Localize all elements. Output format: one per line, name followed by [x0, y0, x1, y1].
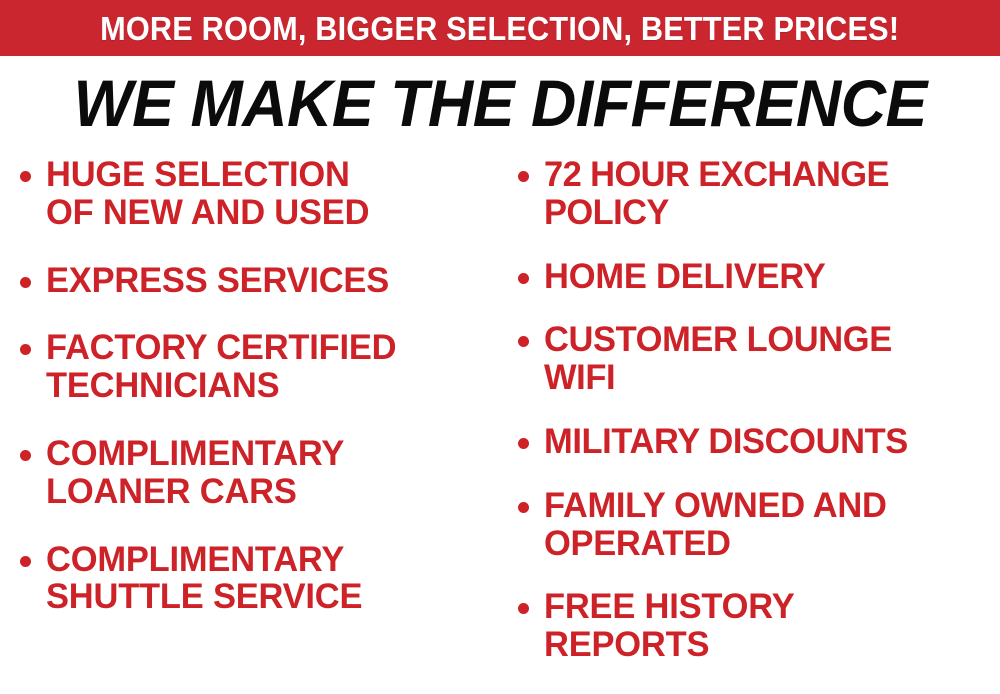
banner-headline: MORE ROOM, BIGGER SELECTION, BETTER PRIC…: [100, 12, 899, 45]
list-item: EXPRESS SERVICES: [20, 262, 496, 300]
list-item: MILITARY DISCOUNTS: [518, 423, 998, 461]
benefit-label-huge-selection: HUGE SELECTION OF NEW AND USED: [46, 156, 369, 232]
bullet-dot-icon: [518, 423, 544, 454]
benefit-label-free-history-reports: FREE HISTORY REPORTS: [544, 588, 794, 664]
benefit-label-military-discounts: MILITARY DISCOUNTS: [544, 423, 908, 461]
benefit-label-express-services: EXPRESS SERVICES: [46, 262, 389, 300]
bullet-dot-icon: [518, 588, 544, 619]
benefit-label-home-delivery: HOME DELIVERY: [544, 258, 826, 296]
list-item: FREE HISTORY REPORTS: [518, 588, 998, 664]
list-item: FACTORY CERTIFIED TECHNICIANS: [20, 329, 496, 405]
benefit-label-shuttle-service: COMPLIMENTARY SHUTTLE SERVICE: [46, 541, 362, 617]
benefit-label-factory-certified: FACTORY CERTIFIED TECHNICIANS: [46, 329, 396, 405]
bullet-dot-icon: [20, 329, 46, 360]
bullet-dot-icon: [20, 541, 46, 572]
bullet-dot-icon: [518, 258, 544, 289]
bullet-dot-icon: [20, 435, 46, 466]
promo-banner: MORE ROOM, BIGGER SELECTION, BETTER PRIC…: [0, 0, 1000, 56]
bullet-dot-icon: [518, 487, 544, 518]
bullet-dot-icon: [20, 262, 46, 293]
benefits-column-left: HUGE SELECTION OF NEW AND USED EXPRESS S…: [0, 156, 500, 646]
list-item: FAMILY OWNED AND OPERATED: [518, 487, 998, 563]
benefits-columns: HUGE SELECTION OF NEW AND USED EXPRESS S…: [0, 156, 1000, 694]
list-item: 72 HOUR EXCHANGE POLICY: [518, 156, 998, 232]
benefit-label-family-owned: FAMILY OWNED AND OPERATED: [544, 487, 887, 563]
list-item: HOME DELIVERY: [518, 258, 998, 296]
list-item: COMPLIMENTARY LOANER CARS: [20, 435, 496, 511]
bullet-dot-icon: [20, 156, 46, 187]
list-item: COMPLIMENTARY SHUTTLE SERVICE: [20, 541, 496, 617]
benefit-label-exchange-policy: 72 HOUR EXCHANGE POLICY: [544, 156, 889, 232]
benefit-label-loaner-cars: COMPLIMENTARY LOANER CARS: [46, 435, 344, 511]
list-item: CUSTOMER LOUNGE WIFI: [518, 321, 998, 397]
list-item: HUGE SELECTION OF NEW AND USED: [20, 156, 496, 232]
bullet-dot-icon: [518, 156, 544, 187]
main-headline-region: WE MAKE THE DIFFERENCE: [0, 62, 1000, 144]
benefit-label-customer-lounge-wifi: CUSTOMER LOUNGE WIFI: [544, 321, 892, 397]
page-title: WE MAKE THE DIFFERENCE: [73, 70, 926, 136]
bullet-dot-icon: [518, 321, 544, 352]
benefits-column-right: 72 HOUR EXCHANGE POLICY HOME DELIVERY CU…: [500, 156, 1000, 690]
